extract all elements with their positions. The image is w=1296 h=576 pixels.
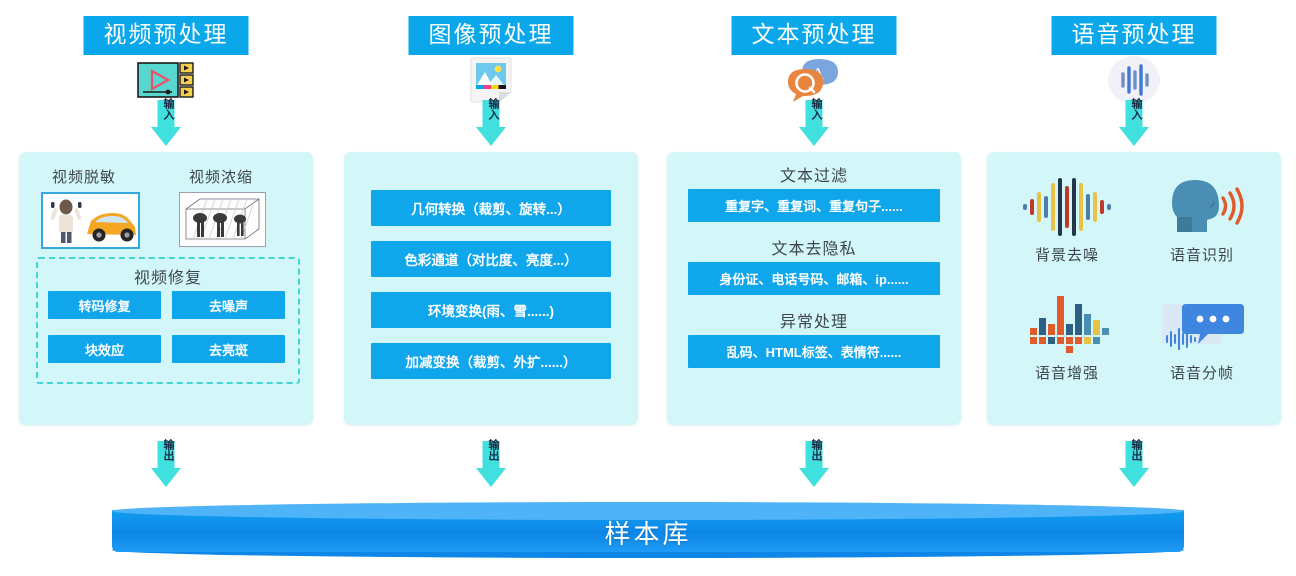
head-speaking-icon [1142, 174, 1262, 238]
chip-remove-bright-spot[interactable]: 去亮斑 [172, 335, 285, 363]
column-title-speech: 语音预处理 [1052, 16, 1217, 55]
panel-image: 几何转换（裁剪、旋转...） 色彩通道（对比度、亮度...） 环境变换(雨、雪.… [344, 152, 638, 425]
chip-exception[interactable]: 乱码、HTML标签、表情符...... [688, 335, 940, 368]
label-video-condense: 视频浓缩 [189, 166, 253, 187]
panel-text: 文本过滤 重复字、重复词、重复句子...... 文本去隐私 身份证、电话号码、邮… [667, 152, 961, 425]
arrow-input-video: 输入 [151, 100, 181, 146]
chip-geometric-transform[interactable]: 几何转换（裁剪、旋转...） [371, 190, 611, 226]
panel-speech: 背景去噪 语音识别 [987, 152, 1281, 425]
column-title-text: 文本预处理 [732, 16, 897, 55]
arrow-input-text: 输入 [799, 100, 829, 146]
column-speech-preprocessing: 语音预处理 输入 [972, 0, 1296, 576]
arrow-output-image: 输出 [476, 441, 506, 487]
column-title-video: 视频预处理 [84, 16, 249, 55]
sample-repository-cylinder[interactable]: 样本库 [112, 502, 1184, 558]
arrow-output-label-text: 输出 [807, 439, 821, 461]
column-text-preprocessing: 文本预处理 A 输入 文本过滤 重复字、重复词、重复句子...... 文本去隐私… [652, 0, 976, 576]
group-title-video-repair: 视频修复 [38, 264, 298, 288]
arrow-input-speech: 输入 [1119, 100, 1149, 146]
cell-speech-enhancement[interactable]: 语音增强 [1007, 292, 1127, 383]
group-video-repair: 视频修复 转码修复 去噪声 块效应 去亮斑 [36, 257, 300, 384]
panel-video: 视频脱敏 [19, 152, 313, 425]
column-image-preprocessing: 图像预处理 输入 几何转换（裁剪、旋转...） 色彩通道（对比度、亮 [329, 0, 653, 576]
cell-label-speech-enhancement: 语音增强 [1007, 362, 1127, 383]
cell-label-speech-recognition: 语音识别 [1142, 244, 1262, 265]
arrow-output-label-image: 输出 [484, 439, 498, 461]
arrow-input-label-speech: 输入 [1127, 98, 1141, 120]
arrow-output-video: 输出 [151, 441, 181, 487]
arrow-output-text: 输出 [799, 441, 829, 487]
chip-environment-transform[interactable]: 环境变换(雨、雪......) [371, 292, 611, 328]
section-title-text-filter: 文本过滤 [667, 162, 961, 186]
cell-speech-framing[interactable]: 语音分帧 [1142, 292, 1262, 383]
cell-speech-recognition[interactable]: 语音识别 [1142, 174, 1262, 265]
chip-block-effect[interactable]: 块效应 [48, 335, 161, 363]
arrow-input-label-image: 输入 [484, 98, 498, 120]
arrow-input-label-video: 输入 [159, 98, 173, 120]
equalizer-bars-icon [1007, 292, 1127, 356]
chat-bubble-waveform-icon [1142, 292, 1262, 356]
chip-color-channel[interactable]: 色彩通道（对比度、亮度...） [371, 241, 611, 277]
arrow-output-label-video: 输出 [159, 439, 173, 461]
arrow-output-speech: 输出 [1119, 441, 1149, 487]
label-video-desensitize: 视频脱敏 [52, 166, 116, 187]
section-title-text-privacy: 文本去隐私 [667, 235, 961, 259]
chip-add-subtract-transform[interactable]: 加减变换（裁剪、外扩......） [371, 343, 611, 379]
chip-transcode-repair[interactable]: 转码修复 [48, 291, 161, 319]
chip-denoise[interactable]: 去噪声 [172, 291, 285, 319]
video-condense-icon [179, 192, 266, 247]
column-title-image: 图像预处理 [409, 16, 574, 55]
arrow-output-label-speech: 输出 [1127, 439, 1141, 461]
chip-text-filter[interactable]: 重复字、重复词、重复句子...... [688, 189, 940, 222]
arrow-input-image: 输入 [476, 100, 506, 146]
column-video-preprocessing: 视频预处理 输入 视频脱敏 [4, 0, 328, 576]
cell-label-speech-framing: 语音分帧 [1142, 362, 1262, 383]
arrow-input-label-text: 输入 [807, 98, 821, 120]
cell-background-denoise[interactable]: 背景去噪 [1007, 174, 1127, 265]
waveform-denoise-icon [1007, 174, 1127, 238]
person-car-photo-icon [41, 192, 140, 249]
diagram-canvas: 视频预处理 输入 视频脱敏 [0, 0, 1296, 576]
chip-text-privacy[interactable]: 身份证、电话号码、邮箱、ip...... [688, 262, 940, 295]
sample-repository-label: 样本库 [112, 502, 1184, 558]
cell-label-background-denoise: 背景去噪 [1007, 244, 1127, 265]
section-title-exception: 异常处理 [667, 308, 961, 332]
